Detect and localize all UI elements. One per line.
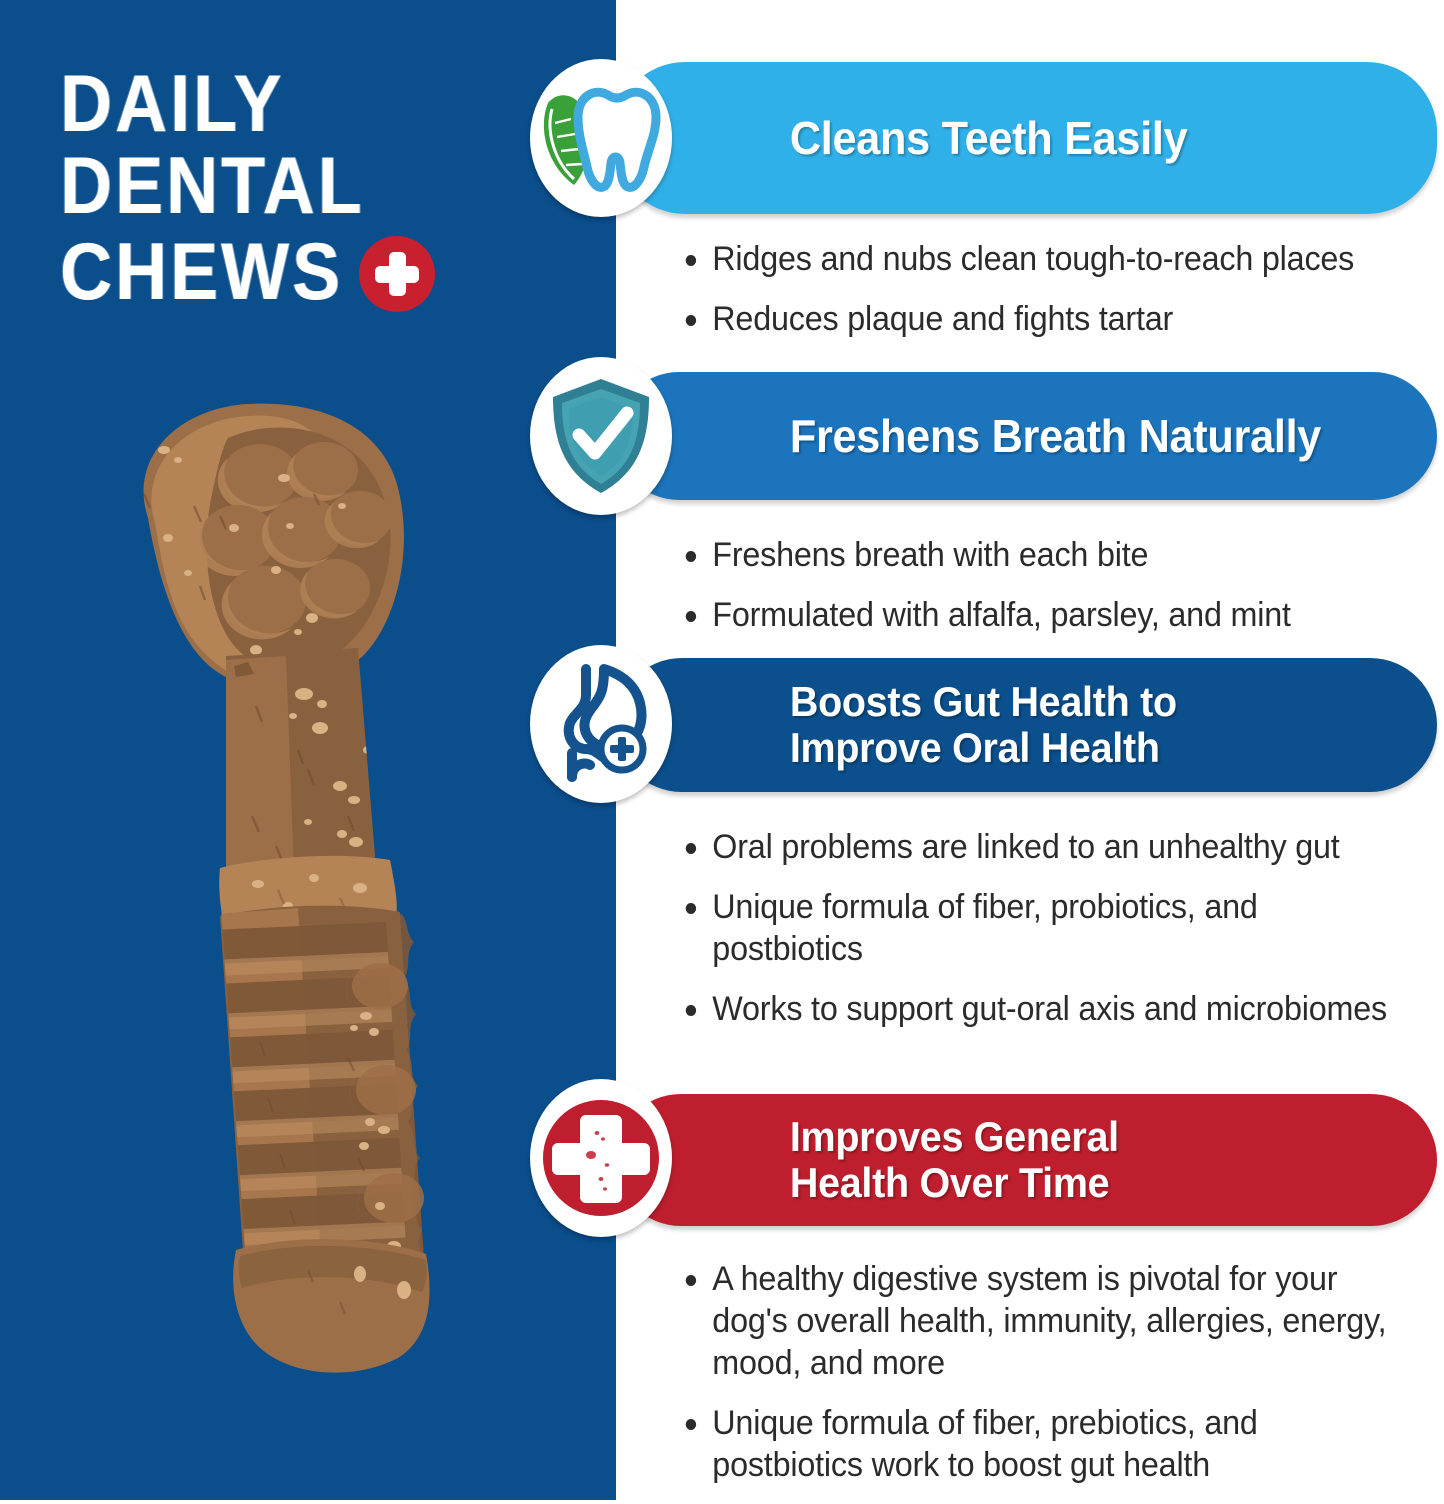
feature-title-4: Improves General Health Over Time: [615, 1114, 1147, 1206]
feature-general-health: Improves General Health Over Time: [530, 1094, 1444, 1504]
medical-cross-icon: [359, 236, 435, 312]
dog-dental-chew-illustration: [108, 398, 528, 1388]
feature-banner-4: Improves General Health Over Time: [615, 1094, 1437, 1226]
feature-title-3-line-1: Boosts Gut Health to: [790, 679, 1177, 725]
list-item: Reduces plaque and fights tartar: [680, 298, 1406, 340]
feature-banner-2: Freshens Breath Naturally: [615, 372, 1437, 500]
title-line-2: DENTAL: [60, 140, 580, 232]
feature-banner-3: Boosts Gut Health to Improve Oral Health: [615, 658, 1437, 792]
medical-cross-icon: [530, 1079, 672, 1237]
tooth-mint-leaf-icon: [530, 59, 672, 217]
infographic-root: DAILY DENTAL CHEWS: [0, 0, 1444, 1500]
shield-check-icon: [530, 357, 672, 515]
feature-title-3-line-2: Improve Oral Health: [790, 725, 1177, 771]
stomach-plus-icon: [530, 645, 672, 803]
chew-head: [136, 404, 404, 688]
list-item: Formulated with alfalfa, parsley, and mi…: [680, 594, 1406, 636]
feature-bullets-4: A healthy digestive system is pivotal fo…: [680, 1258, 1444, 1486]
list-item: Unique formula of fiber, prebiotics, and…: [680, 1402, 1406, 1486]
feature-freshens-breath: Freshens Breath Naturally Freshens breat…: [530, 372, 1444, 654]
feature-title-1: Cleans Teeth Easily: [615, 115, 1216, 161]
feature-bullets-2: Freshens breath with each bite Formulate…: [680, 534, 1444, 636]
feature-bullets-3: Oral problems are linked to an unhealthy…: [680, 826, 1444, 1030]
feature-cleans-teeth: Cleans Teeth Easily Ridges and: [530, 62, 1444, 358]
chew-base: [233, 1239, 429, 1373]
features-column: Cleans Teeth Easily Ridges and: [530, 0, 1444, 1500]
feature-title-4-line-2: Health Over Time: [790, 1160, 1119, 1206]
title-line-3-row: CHEWS: [60, 222, 580, 312]
feature-title-4-line-1: Improves General: [790, 1114, 1119, 1160]
feature-banner-1: Cleans Teeth Easily: [615, 62, 1437, 214]
list-item: A healthy digestive system is pivotal fo…: [680, 1258, 1406, 1384]
feature-bullets-1: Ridges and nubs clean tough-to-reach pla…: [680, 238, 1444, 340]
feature-title-3: Boosts Gut Health to Improve Oral Health: [615, 679, 1205, 771]
list-item: Freshens breath with each bite: [680, 534, 1406, 576]
page-title: DAILY DENTAL CHEWS: [60, 58, 580, 312]
list-item: Oral problems are linked to an unhealthy…: [680, 826, 1406, 868]
list-item: Ridges and nubs clean tough-to-reach pla…: [680, 238, 1406, 280]
list-item: Unique formula of fiber, probiotics, and…: [680, 886, 1406, 970]
title-line-1: DAILY: [60, 58, 580, 150]
feature-gut-health: Boosts Gut Health to Improve Oral Health: [530, 658, 1444, 1048]
title-line-3: CHEWS: [60, 226, 343, 318]
list-item: Works to support gut-oral axis and micro…: [680, 988, 1406, 1030]
chew-ridged-body: [212, 906, 444, 1278]
chew-shaft: [226, 648, 376, 876]
feature-title-2: Freshens Breath Naturally: [615, 413, 1349, 459]
